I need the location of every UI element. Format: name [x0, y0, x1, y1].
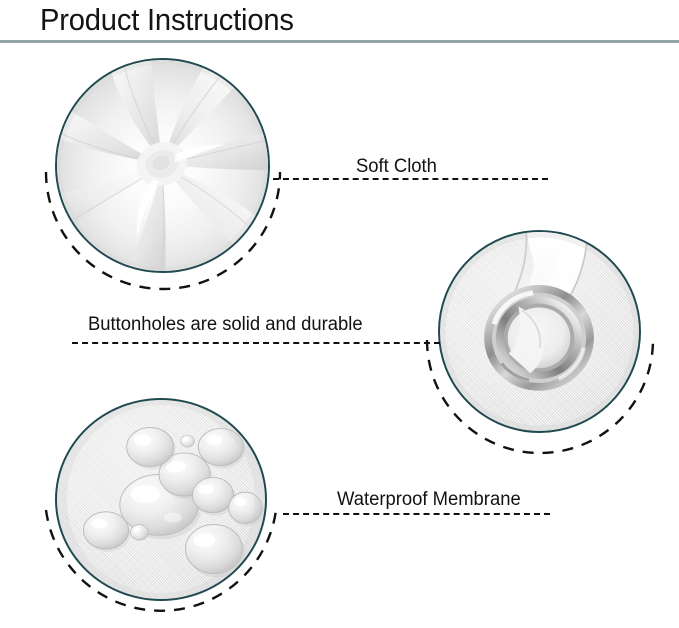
- feature-image-buttonholes: [438, 230, 641, 433]
- feature-image-soft-cloth: [55, 58, 270, 273]
- title-divider: [0, 40, 679, 43]
- leader-line-waterproof-membrane: [283, 513, 550, 515]
- feature-label-waterproof-membrane: Waterproof Membrane: [337, 488, 521, 511]
- feature-image-waterproof-membrane: [55, 398, 267, 601]
- page-title: Product Instructions: [40, 1, 294, 39]
- water-droplets-image: [57, 400, 265, 599]
- feature-label-buttonholes: Buttonholes are solid and durable: [88, 313, 363, 336]
- cloth-swirl-image: [57, 60, 268, 271]
- leader-line-soft-cloth: [273, 178, 548, 180]
- leader-line-buttonholes: [72, 342, 440, 344]
- feature-label-soft-cloth: Soft Cloth: [356, 155, 437, 178]
- grommet-eyelet-image: [440, 232, 639, 431]
